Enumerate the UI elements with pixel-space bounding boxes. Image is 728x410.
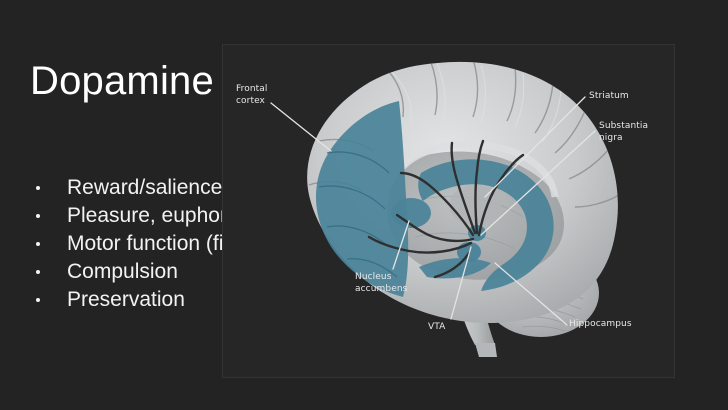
brain-figure-panel: Frontal cortex Striatum Substantia nigra… xyxy=(222,44,675,378)
list-item-label: Reward/salience xyxy=(67,176,222,199)
slide-canvas: Dopamine Functions Reward/salience Pleas… xyxy=(0,0,728,410)
bullet-dot-icon xyxy=(36,186,40,190)
bullet-dot-icon xyxy=(36,270,40,274)
bullet-dot-icon xyxy=(36,298,40,302)
list-item-label: Preservation xyxy=(67,288,185,311)
brain-sagittal-diagram xyxy=(223,45,674,377)
list-item-label: Compulsion xyxy=(67,260,178,283)
bullet-dot-icon xyxy=(36,242,40,246)
bullet-dot-icon xyxy=(36,214,40,218)
list-item-label: Pleasure, euphoria xyxy=(67,204,243,227)
